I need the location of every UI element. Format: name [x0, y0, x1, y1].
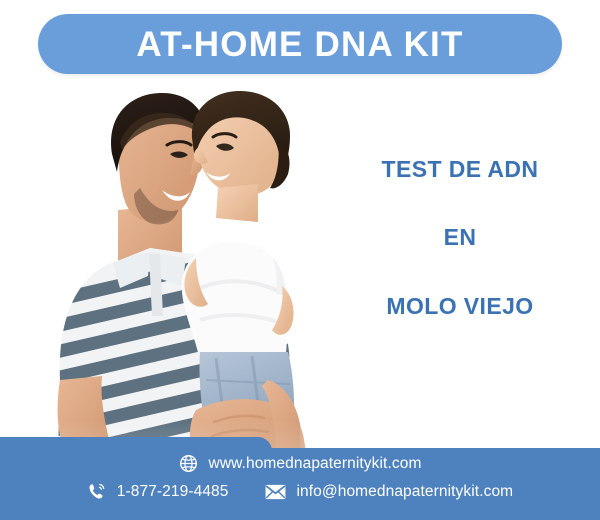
- father-holding-toddler-photo: [0, 80, 340, 452]
- headline-line-3: MOLO VIEJO: [330, 295, 590, 318]
- headline-block: TEST DE ADN EN MOLO VIEJO: [330, 158, 590, 318]
- poster-canvas: AT-HOME DNA KIT: [0, 0, 600, 520]
- footer-phone-text: 1-877-219-4485: [117, 483, 229, 501]
- footer-website-text: www.homednapaternitykit.com: [209, 455, 422, 473]
- phone-icon: [87, 482, 106, 501]
- page-title: AT-HOME DNA KIT: [136, 27, 463, 62]
- footer-website-item[interactable]: www.homednapaternitykit.com: [179, 454, 422, 473]
- footer-email-text: info@homednapaternitykit.com: [297, 483, 514, 501]
- globe-icon: [179, 454, 198, 473]
- footer-website-row: www.homednapaternitykit.com: [0, 454, 600, 473]
- footer-phone-email-row: 1-877-219-4485 info@homednapaternitykit.…: [0, 482, 600, 501]
- headline-line-2: EN: [330, 226, 590, 249]
- footer-email-item[interactable]: info@homednapaternitykit.com: [265, 483, 514, 501]
- headline-line-1: TEST DE ADN: [330, 158, 590, 181]
- envelope-icon: [265, 484, 286, 500]
- header-banner: AT-HOME DNA KIT: [38, 14, 562, 74]
- footer-phone-item[interactable]: 1-877-219-4485: [87, 482, 229, 501]
- footer-contact-bar: www.homednapaternitykit.com 1-877-219-44…: [0, 448, 600, 520]
